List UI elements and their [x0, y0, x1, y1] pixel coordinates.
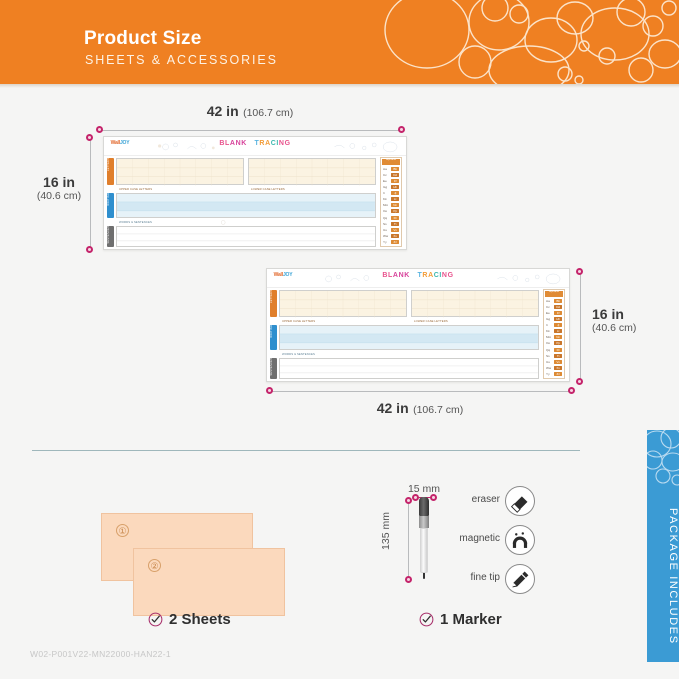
alphabet-letter-right: Dd [554, 305, 562, 309]
sheet-caption-writing: WORDS & SENTENCES [119, 220, 152, 224]
alphabet-letter-left: Ss [546, 354, 550, 358]
circle-check-icon [419, 612, 434, 627]
marker-height-dot-top [405, 497, 412, 504]
alphabet-letter-left: Uu [383, 228, 387, 232]
ruled-lines [117, 227, 375, 248]
paper-number-two: ② [148, 559, 161, 572]
alphabet-letter-right: Ll [554, 329, 562, 333]
caption-2-sheets: 2 Sheets [148, 611, 231, 628]
alphabet-letter-left: Uu [546, 360, 550, 364]
alphabet-letter-left: Qq [383, 216, 387, 220]
page-subtitle: SHEETS & ACCESSORIES [85, 53, 278, 67]
alphabet-letter-right: Ff [391, 179, 399, 183]
sheet-row-sentences [116, 226, 376, 247]
sheet-tab-letters: LETTERS [107, 158, 114, 185]
caption-2-sheets-label: 2 Sheets [169, 611, 231, 628]
sheet-two-caption-writing: WORDS & SENTENCES [282, 352, 315, 356]
alphabet-letter-left: Ee [546, 311, 550, 315]
alphabet-letter-right: Jj [554, 323, 562, 327]
alphabet-letter-right: Ff [554, 311, 562, 315]
eraser-icon [505, 486, 535, 516]
alphabet-row: YyZz [545, 371, 563, 377]
marker-tip [423, 573, 425, 579]
alphabet-letter-left: Gg [383, 185, 387, 189]
alphabet-letter-right: Tt [554, 354, 562, 358]
ruled-lines [117, 159, 243, 186]
alphabet-letter-right: Vv [391, 228, 399, 232]
alphabet-letter-right: Pp [554, 341, 562, 345]
alphabet-letter-left: Qq [546, 348, 550, 352]
alphabet-letter-left: Ee [383, 179, 387, 183]
sheet-one-height-label: 16 in (40.6 cm) [31, 174, 87, 202]
sheet-two-row-uppercase-right [411, 290, 539, 317]
footer-product-code: W02-P001V22-MN22000-HAN22-1 [30, 649, 171, 659]
sheet-one-height-dot-bottom [86, 246, 93, 253]
caption-1-marker-label: 1 Marker [440, 611, 502, 628]
alphabet-letter-right: Xx [391, 234, 399, 238]
sheet-one-width-line [100, 130, 402, 131]
section-divider [32, 450, 580, 451]
alphabet-letter-right: Dd [391, 173, 399, 177]
alphabet-letter-left: Mm [383, 203, 388, 207]
alphabet-letter-right: Tt [391, 222, 399, 226]
sheet-two-width-label: 42 in (106.7 cm) [330, 400, 510, 418]
alphabet-letter-right: Bb [391, 167, 399, 171]
sheet-caption-uppercase-right: LOWER CASE LETTERS [251, 187, 285, 191]
sheet-two-caption-uppercase-left: UPPER CASE LETTERS [282, 319, 315, 323]
ruled-lines [280, 359, 538, 380]
sheet-two-width-dot-right [568, 387, 575, 394]
alphabet-letter-left: Cc [546, 305, 550, 309]
sheet-alphabet-column: Alphabet AaBbCcDdEeFfGgHhIiJjKkLlMmNnOoP… [380, 157, 402, 247]
marker-collar [419, 516, 429, 528]
marker-height-dot-bottom [405, 576, 412, 583]
product-sheet-one[interactable]: WallJOY BLANK TRACING L [103, 136, 407, 250]
marker-cap [419, 497, 429, 516]
product-size-infographic: Product Size SHEETS & ACCESSORIES 42 in … [0, 0, 679, 679]
sheet-tab-sentences: SENTENCES [107, 226, 114, 247]
alphabet-letter-left: Ss [383, 222, 387, 226]
alphabet-letter-right: Ll [391, 197, 399, 201]
sheet-one-width-label: 42 in (106.7 cm) [160, 103, 340, 121]
caption-1-marker: 1 Marker [419, 611, 502, 628]
sheet-two-height-dot-top [576, 268, 583, 275]
alphabet-letter-right: Hh [554, 317, 562, 321]
alphabet-header: Alphabet [382, 159, 400, 165]
feature-label-magnetic: magnetic [430, 533, 500, 544]
alphabet-letter-left: Yy [546, 372, 550, 376]
alphabet-letter-right: Vv [554, 360, 562, 364]
bubbles-pattern-icon [379, 0, 679, 84]
alphabet-letter-right: Rr [391, 216, 399, 220]
sheet-one-width-dot-right [398, 126, 405, 133]
alphabet-letter-left: Aa [383, 167, 387, 171]
sheet-two-height-label: 16 in (40.6 cm) [592, 306, 652, 334]
ruled-lines [280, 291, 406, 318]
ruled-lines [117, 194, 375, 219]
paper-number-one: ① [116, 524, 129, 537]
alphabet-letter-right: Pp [391, 209, 399, 213]
sheet-two-height-line [580, 272, 581, 382]
bubbles-pattern-icon [647, 430, 679, 500]
sheet-two-row-uppercase-left [279, 290, 407, 317]
alphabet-header: Alphabet [545, 291, 563, 297]
alphabet-letter-right: Zz [391, 240, 399, 244]
sheet-two-alphabet-column: Alphabet AaBbCcDdEeFfGgHhIiJjKkLlMmNnOoP… [543, 289, 565, 379]
feature-label-fine-tip: fine tip [434, 572, 500, 583]
alphabet-letter-left: Kk [546, 329, 550, 333]
sheet-two-height-dot-bottom [576, 378, 583, 385]
alphabet-row: YyZz [382, 239, 400, 245]
package-includes-label: PACKAGE INCLUDES [647, 508, 679, 645]
sheet-two-tab-letters: LETTERS [270, 290, 277, 317]
ruled-lines [249, 159, 375, 186]
alphabet-letter-right: Hh [391, 185, 399, 189]
alphabet-letter-left: Oo [546, 341, 550, 345]
sheet-caption-uppercase-left: UPPER CASE LETTERS [119, 187, 152, 191]
alphabet-letter-right: Zz [554, 372, 562, 376]
alphabet-letter-left: Aa [546, 299, 550, 303]
alphabet-letter-right: Nn [391, 203, 399, 207]
sheet-one-width-dot-left [96, 126, 103, 133]
alphabet-letter-left: Yy [383, 240, 387, 244]
feature-label-eraser: eraser [440, 494, 500, 505]
magnet-icon [505, 525, 535, 555]
sheet-row-uppercase-right [248, 158, 376, 185]
alphabet-letter-left: Oo [383, 209, 387, 213]
alphabet-letter-right: Xx [554, 366, 562, 370]
page-title: Product Size [84, 28, 201, 50]
sheet-two-row-sentences [279, 358, 539, 379]
alphabet-letter-right: Rr [554, 348, 562, 352]
sheet-two-width-line [270, 391, 572, 392]
product-sheet-two[interactable]: WallJOY BLANK TRACING LETTERS [266, 268, 570, 382]
alphabet-letter-left: Kk [383, 197, 387, 201]
alphabet-letter-right: Jj [391, 191, 399, 195]
alphabet-letter-right: Nn [554, 335, 562, 339]
ruled-lines [280, 326, 538, 351]
alphabet-letter-left: Ii [546, 323, 548, 327]
header-shadow [0, 84, 679, 88]
alphabet-letter-left: Ww [383, 234, 388, 238]
package-paper-two: ② [133, 548, 285, 616]
sheet-row-writing [116, 193, 376, 218]
marker-shaft [420, 528, 428, 573]
pen-tip-icon [505, 564, 535, 594]
sheet-one-height-line [90, 138, 91, 250]
alphabet-letter-left: Mm [546, 335, 551, 339]
marker-illustration [419, 497, 429, 579]
sheet-one-height-dot-top [86, 134, 93, 141]
alphabet-letter-left: Ww [546, 366, 551, 370]
alphabet-letter-left: Cc [383, 173, 387, 177]
sheet-two-tab-writing: WRITING [270, 325, 277, 350]
sheet-two-width-dot-left [266, 387, 273, 394]
sheet-two-tab-sentences: SENTENCES [270, 358, 277, 379]
sheet-tab-writing: WRITING [107, 193, 114, 218]
circle-check-icon [148, 612, 163, 627]
marker-height-line [408, 501, 409, 580]
alphabet-letter-right: Bb [554, 299, 562, 303]
ruled-lines [412, 291, 538, 318]
sheet-row-uppercase-left [116, 158, 244, 185]
package-includes-tab: PACKAGE INCLUDES [647, 430, 679, 662]
page-header: Product Size SHEETS & ACCESSORIES [0, 0, 679, 84]
sheet-two-caption-uppercase-right: LOWER CASE LETTERS [414, 319, 448, 323]
marker-height-label: 135 mm [377, 512, 391, 550]
sheet-two-row-writing [279, 325, 539, 350]
alphabet-letter-left: Ii [383, 191, 385, 195]
alphabet-letter-left: Gg [546, 317, 550, 321]
